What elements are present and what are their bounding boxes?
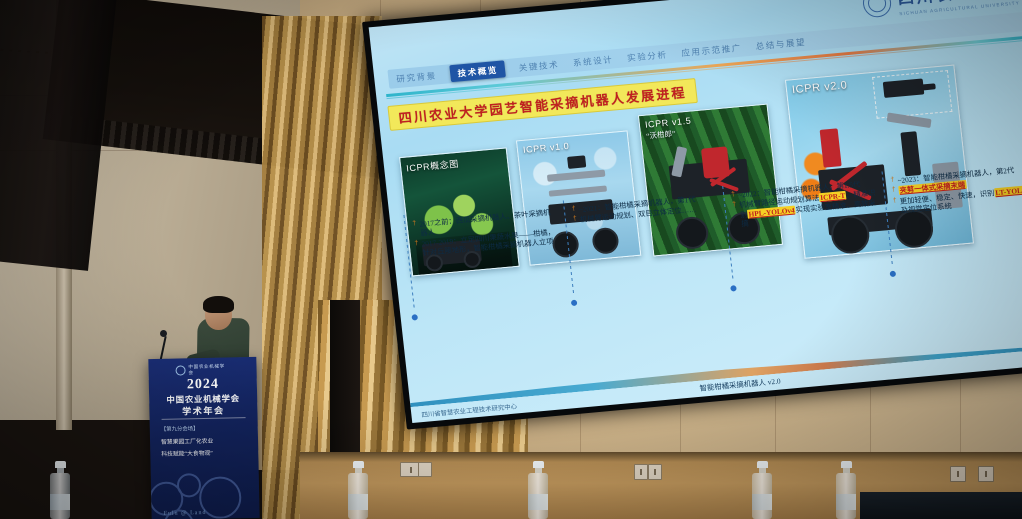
dagger-icon: †: [414, 239, 420, 258]
bullet-column-1: † 2017之前：西瓜采摘机器人、茶叶采摘机器人 † 2017-2019：立足四…: [402, 207, 572, 321]
wall-outlet: [634, 464, 648, 480]
water-bottle: [348, 461, 368, 519]
dagger-icon: †: [571, 205, 576, 215]
nav-item-1-active[interactable]: 技术概览: [450, 60, 506, 82]
podium-bottom-text: Fulu @ Land: [164, 510, 207, 517]
timeline-dot-icon: [570, 300, 577, 307]
dagger-icon: †: [573, 216, 578, 226]
conference-hall-photo: 四川农业大学 SICHUAN AGRICULTURAL UNIVERSITY 研…: [0, 0, 1022, 519]
bullet-column-4: † ~2023：智能柑橘采摘机器人，第2代 † 夹剪一体式采摘末端 † 更加轻便…: [880, 163, 1022, 277]
screen-surface: 四川农业大学 SICHUAN AGRICULTURAL UNIVERSITY 研…: [369, 0, 1022, 423]
podium-org-mark: 中国农业机械学会: [188, 363, 229, 376]
podium-year: 2024: [187, 377, 219, 394]
bullet-column-2: † ~2021：智能柑橘采摘机器人，第1代 † 机械臂运动规划、双目立体定位……: [561, 192, 731, 306]
lectern-podium: 中国农业机械学会 2024 中国农业机械学会 学术年会 【第九分会场】 智慧果园…: [148, 357, 259, 519]
wall-outlet: [950, 466, 966, 482]
floor-shadow: [300, 452, 1022, 462]
dagger-icon: †: [731, 191, 736, 201]
nav-item-2[interactable]: 关键技术: [518, 58, 560, 74]
water-bottle: [836, 461, 856, 519]
front-table: [860, 492, 1022, 519]
podium-session-tag: 【第九分会场】: [161, 424, 199, 433]
nav-item-5[interactable]: 应用示范推广: [681, 41, 743, 58]
dagger-icon: †: [732, 201, 739, 229]
podium-divider: [162, 417, 246, 420]
wall-outlet: [418, 462, 432, 477]
water-bottle: [50, 461, 70, 519]
presenter-hair: [203, 296, 234, 313]
podium-line2: 学术年会: [182, 404, 225, 418]
microphone-icon: [160, 330, 167, 337]
projection-screen: 四川农业大学 SICHUAN AGRICULTURAL UNIVERSITY 研…: [362, 0, 1022, 430]
presentation-slide: 四川农业大学 SICHUAN AGRICULTURAL UNIVERSITY 研…: [369, 0, 1022, 423]
timeline-dot-icon: [730, 285, 737, 292]
nav-item-3[interactable]: 系统设计: [572, 53, 614, 69]
dagger-icon: †: [892, 197, 898, 216]
water-bottle: [752, 461, 772, 519]
university-seal-icon: [862, 0, 893, 18]
org-seal-icon: [175, 365, 185, 375]
podium-gear-graphic: [148, 448, 259, 519]
timeline-dot-icon: [411, 314, 418, 321]
dagger-icon: †: [412, 220, 418, 239]
dagger-icon: †: [891, 187, 896, 197]
dagger-icon: †: [890, 176, 895, 186]
wall-outlet: [978, 466, 994, 482]
podium-subtitle-1: 智慧果园工厂化农业: [161, 436, 213, 446]
nav-item-6[interactable]: 总结与展望: [755, 35, 807, 52]
podium-org-logo: 中国农业机械学会: [175, 363, 229, 376]
nav-item-0[interactable]: 研究背景: [396, 69, 438, 85]
bullet-column-3: † ~2022：智能柑橘采摘机器人，第1.5代 † 机械臂路径运动规划算法ICP…: [721, 178, 891, 292]
timeline-dot-icon: [889, 271, 896, 278]
water-bottle: [528, 461, 548, 519]
nav-item-4[interactable]: 实验分析: [626, 48, 668, 64]
wall-outlet: [648, 464, 662, 480]
